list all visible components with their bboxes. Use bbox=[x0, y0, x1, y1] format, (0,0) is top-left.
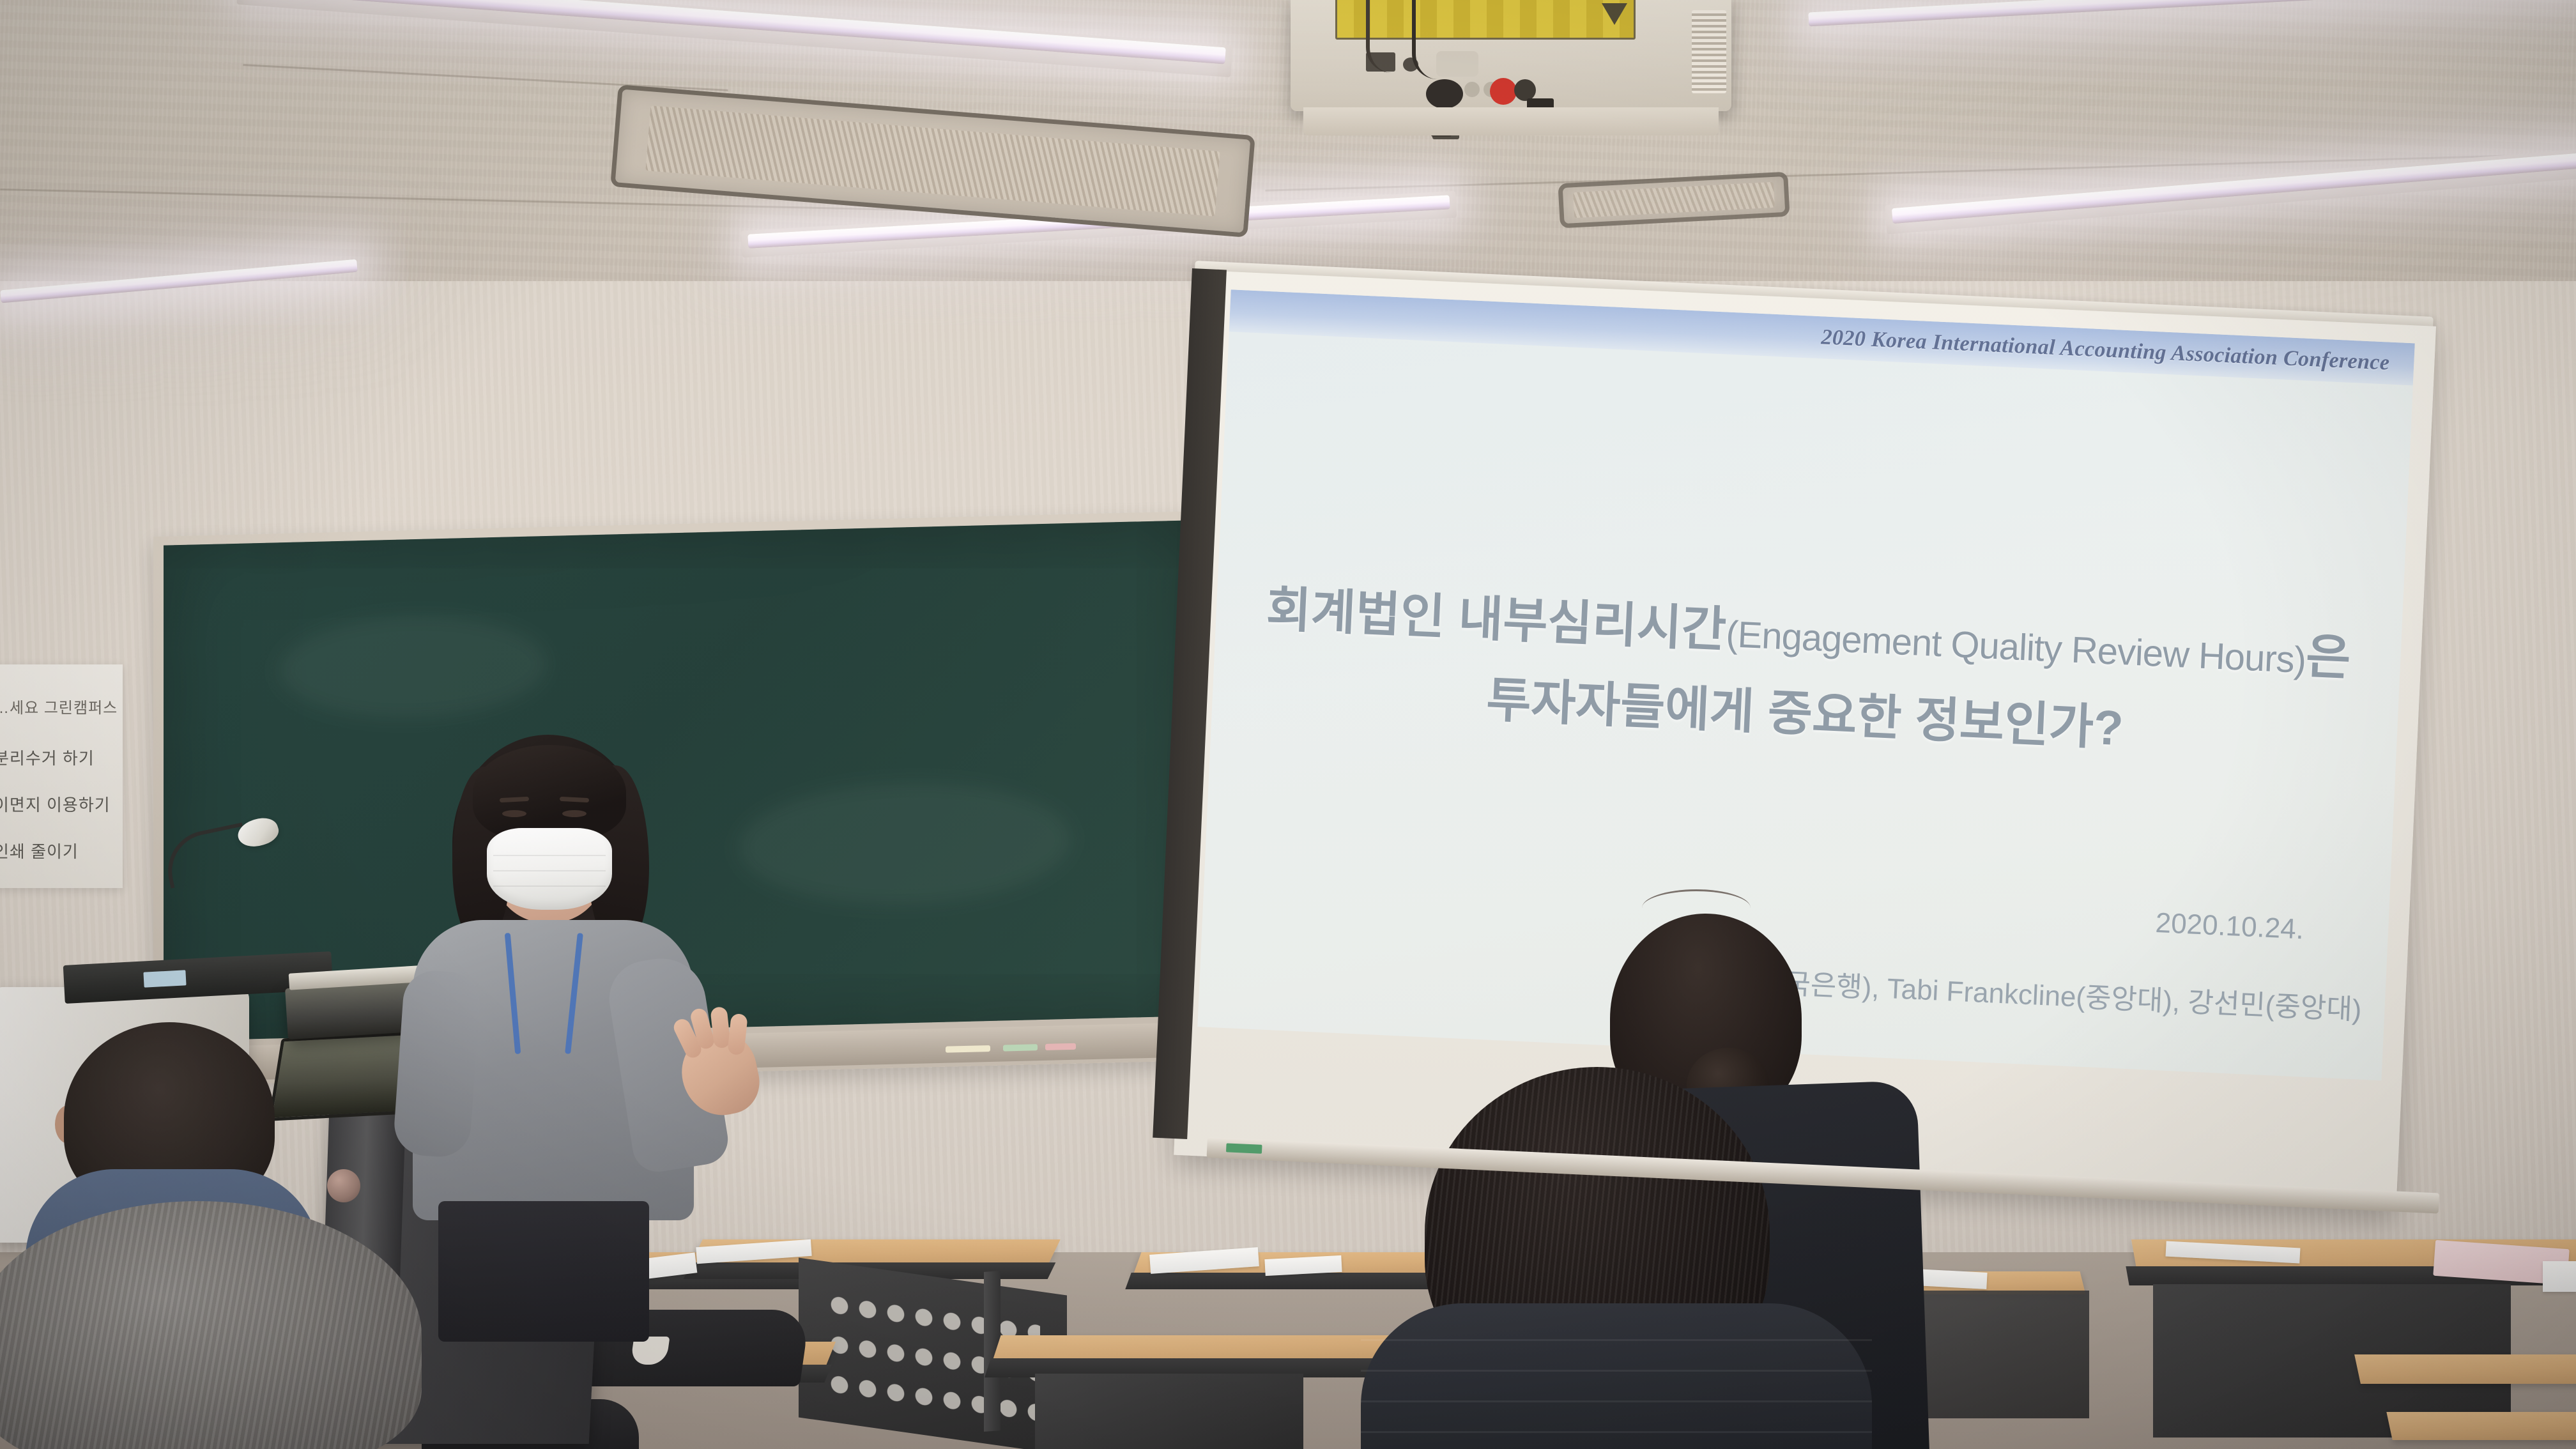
projector-power-button[interactable] bbox=[1490, 78, 1517, 105]
warning-triangle-icon bbox=[1602, 3, 1627, 25]
slide-title-english: (Engagement Quality Review Hours) bbox=[1725, 613, 2306, 681]
presenter bbox=[377, 728, 773, 1303]
projector-mount bbox=[1303, 107, 1719, 135]
projector-cable bbox=[1412, 0, 1482, 79]
desk-modesty-panel bbox=[1035, 1374, 1303, 1449]
poster-line: 인쇄 줄이기 bbox=[0, 839, 118, 862]
poster-heading: …세요 그린캠퍼스 bbox=[0, 695, 118, 717]
desk-top bbox=[2354, 1354, 2576, 1384]
vent-grille bbox=[1573, 182, 1775, 218]
presenter-eye-left bbox=[502, 810, 526, 817]
projector-knob bbox=[1464, 82, 1480, 97]
mask-pleat bbox=[493, 885, 606, 887]
slide-title-korean: 회계법인 내부심리시간 bbox=[1265, 582, 1727, 657]
audience-bob-hair-jacket bbox=[1361, 1303, 1872, 1449]
poster-line: 분리수거 하기 bbox=[0, 746, 118, 769]
projector-knob bbox=[1514, 79, 1536, 101]
presenter-bangs bbox=[473, 745, 626, 841]
mask-pleat bbox=[493, 855, 606, 856]
lectern-adjust-knob[interactable] bbox=[327, 1169, 360, 1202]
ceiling bbox=[0, 0, 2576, 300]
slide-date: 2020.10.24. bbox=[2155, 907, 2304, 946]
green-campus-poster: …세요 그린캠퍼스 분리수거 하기 이면지 이용하기 인쇄 줄이기 bbox=[0, 664, 123, 888]
presentation-slide: 2020 Korea International Accounting Asso… bbox=[1197, 289, 2414, 1080]
screen-sticker bbox=[1226, 1143, 1262, 1154]
desk-top bbox=[2386, 1412, 2576, 1440]
ceiling-texture bbox=[0, 0, 2576, 300]
chalk-piece[interactable] bbox=[1045, 1043, 1076, 1050]
chalk-piece[interactable] bbox=[1003, 1044, 1038, 1051]
puffer-seam bbox=[1361, 1339, 1872, 1341]
slide-title-block: 회계법인 내부심리시간(Engagement Quality Review Ho… bbox=[1211, 577, 2402, 772]
puffer-seam bbox=[1361, 1370, 1872, 1372]
chalk-piece[interactable] bbox=[946, 1045, 990, 1053]
chalk-smudge bbox=[279, 613, 547, 721]
presenter-eye-right bbox=[562, 810, 586, 817]
projector-port bbox=[1426, 79, 1463, 109]
av-cabinet-sticker bbox=[143, 970, 186, 987]
finger bbox=[727, 1013, 748, 1055]
presenter-arm-left bbox=[392, 969, 482, 1159]
paper-sheet[interactable] bbox=[2543, 1261, 2576, 1292]
face-mask-icon bbox=[487, 828, 612, 910]
slide-title-suffix: 은 bbox=[2304, 629, 2352, 686]
ceiling-projector bbox=[1291, 0, 1731, 111]
projector-vent bbox=[1692, 10, 1726, 93]
mask-pleat bbox=[493, 870, 606, 871]
puffer-seam bbox=[1361, 1431, 1872, 1433]
conference-banner-text: 2020 Korea International Accounting Asso… bbox=[1821, 325, 2414, 376]
puffer-seam bbox=[1361, 1400, 1872, 1402]
slide-authors: 한국은행), Tabi Frankcline(중앙대), 강선민(중앙대) bbox=[1758, 960, 2363, 1028]
presenter-lower-body bbox=[438, 1201, 649, 1342]
projection-screen: 2020 Korea International Accounting Asso… bbox=[1174, 271, 2436, 1210]
poster-line: 이면지 이용하기 bbox=[0, 792, 118, 816]
chalk-smudge bbox=[739, 779, 1071, 908]
classroom-presentation-photo: …세요 그린캠퍼스 분리수거 하기 이면지 이용하기 인쇄 줄이기 2020 K… bbox=[0, 0, 2576, 1449]
projector-cable bbox=[1366, 0, 1411, 73]
